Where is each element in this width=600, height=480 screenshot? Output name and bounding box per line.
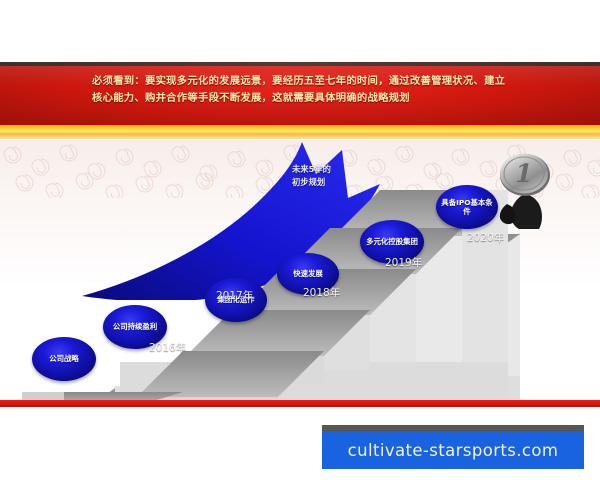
step-bubble-1[interactable]: 公司战略 — [32, 337, 96, 381]
top-white-margin — [0, 0, 600, 62]
red-banner: 必须看到：要实现多元化的发展远景，要经历五至七年的时间，通过改善管理状况、建立 … — [0, 62, 600, 140]
coin-and-hand: 1 — [487, 152, 557, 230]
step-bubble-4-label: 快速发展 — [290, 269, 326, 279]
banner-text-block: 必须看到：要实现多元化的发展远景，要经历五至七年的时间，通过改善管理状况、建立 … — [92, 73, 522, 107]
banner-gold-strip — [0, 125, 600, 134]
slide-bottom-red-bar — [0, 400, 600, 407]
watermark-banner[interactable]: cultivate-starsports.com — [322, 425, 584, 469]
year-label-2016: 2016年 — [149, 340, 186, 355]
coin-face-value: 1 — [515, 159, 532, 188]
watermark-url: cultivate-starsports.com — [348, 441, 559, 460]
slide-canvas: 必须看到：要实现多元化的发展远景，要经历五至七年的时间，通过改善管理状况、建立 … — [0, 0, 600, 480]
banner-gold-fade — [0, 134, 600, 139]
year-label-2017: 2017年 — [216, 288, 253, 303]
year-label-2018: 2018年 — [303, 285, 340, 300]
step-bubble-2-label: 公司持续盈利 — [110, 322, 160, 332]
banner-line-1: 必须看到：要实现多元化的发展远景，要经历五至七年的时间，通过改善管理状况、建立 — [92, 73, 522, 90]
step-bubble-5-label: 多元化控股集团 — [363, 237, 421, 247]
watermark-blue-bar[interactable]: cultivate-starsports.com — [322, 431, 584, 469]
step-bubble-1-label: 公司战略 — [46, 354, 82, 364]
banner-line-2: 核心能力、购并合作等手段不断发展，这就需要具体明确的战略规划 — [92, 90, 522, 107]
year-label-2020: 2020年 — [467, 230, 504, 245]
year-label-2019: 2019年 — [385, 255, 422, 270]
